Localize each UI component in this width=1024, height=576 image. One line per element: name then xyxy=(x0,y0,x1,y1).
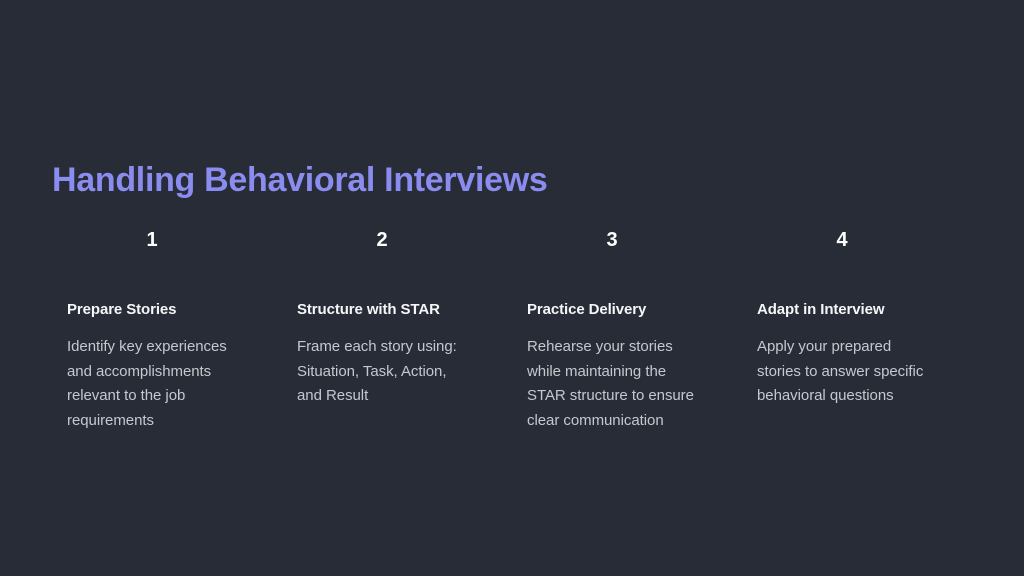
step-heading: Adapt in Interview xyxy=(757,300,927,320)
step-number: 4 xyxy=(757,228,927,252)
step-number: 3 xyxy=(527,228,697,252)
presentation-slide: Handling Behavioral Interviews 1 Prepare… xyxy=(0,0,1024,576)
step-item: 1 Prepare Stories Identify key experienc… xyxy=(67,228,237,433)
step-heading: Practice Delivery xyxy=(527,300,697,320)
step-heading: Prepare Stories xyxy=(67,300,237,320)
step-body: Frame each story using: Situation, Task,… xyxy=(297,335,467,409)
step-number: 1 xyxy=(67,228,237,252)
step-number: 2 xyxy=(297,228,467,252)
page-title: Handling Behavioral Interviews xyxy=(52,159,547,201)
step-heading: Structure with STAR xyxy=(297,300,467,320)
step-item: 4 Adapt in Interview Apply your prepared… xyxy=(757,228,927,409)
step-body: Apply your prepared stories to answer sp… xyxy=(757,335,927,409)
step-item: 3 Practice Delivery Rehearse your storie… xyxy=(527,228,697,433)
steps-row: 1 Prepare Stories Identify key experienc… xyxy=(67,228,967,433)
step-item: 2 Structure with STAR Frame each story u… xyxy=(297,228,467,409)
step-body: Rehearse your stories while maintaining … xyxy=(527,335,697,433)
step-body: Identify key experiences and accomplishm… xyxy=(67,335,237,433)
